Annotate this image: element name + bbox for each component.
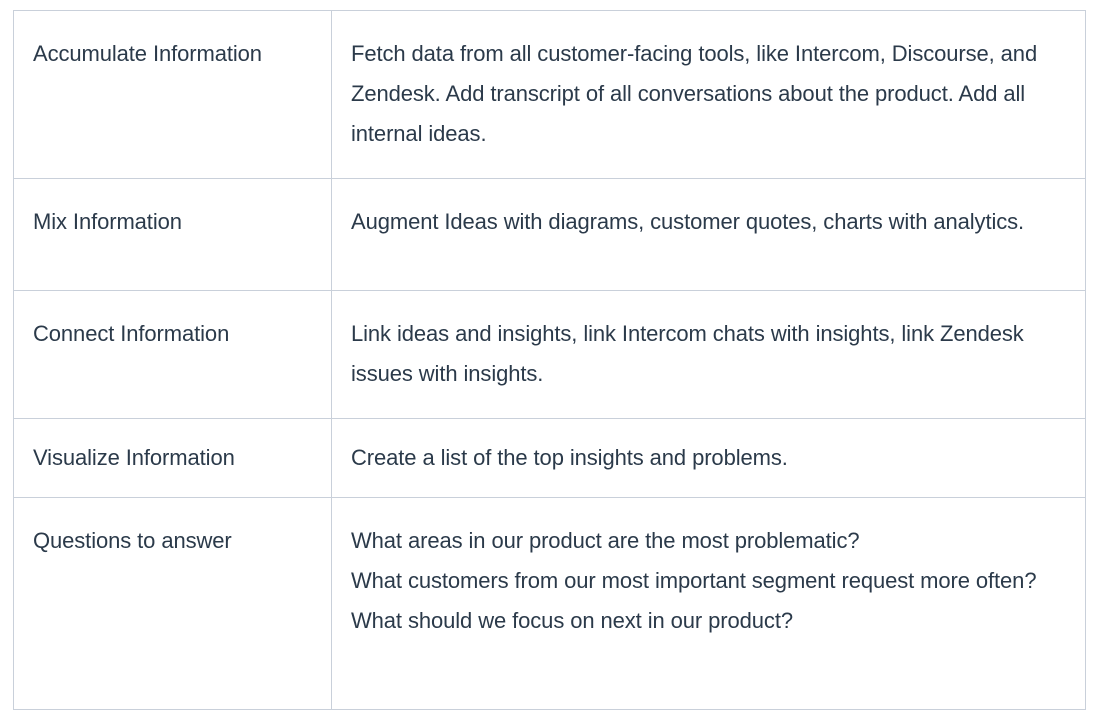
row-label-cell: Visualize Information bbox=[14, 419, 332, 498]
row-label: Connect Information bbox=[33, 321, 229, 346]
row-label: Questions to answer bbox=[33, 528, 232, 553]
table-row: Questions to answer What areas in our pr… bbox=[14, 498, 1086, 710]
info-table-container: Accumulate Information Fetch data from a… bbox=[13, 10, 1086, 672]
row-paragraph: Create a list of the top insights and pr… bbox=[351, 438, 1061, 478]
row-label-cell: Accumulate Information bbox=[14, 11, 332, 179]
table-row: Accumulate Information Fetch data from a… bbox=[14, 11, 1086, 179]
row-paragraph: Fetch data from all customer-facing tool… bbox=[351, 34, 1061, 154]
row-description-cell: Fetch data from all customer-facing tool… bbox=[332, 11, 1086, 179]
info-table: Accumulate Information Fetch data from a… bbox=[13, 10, 1086, 710]
row-label: Mix Information bbox=[33, 209, 182, 234]
table-row: Mix Information Augment Ideas with diagr… bbox=[14, 179, 1086, 291]
table-row: Connect Information Link ideas and insig… bbox=[14, 291, 1086, 419]
row-paragraph: What should we focus on next in our prod… bbox=[351, 601, 1061, 641]
row-description-cell: Create a list of the top insights and pr… bbox=[332, 419, 1086, 498]
row-label-cell: Mix Information bbox=[14, 179, 332, 291]
row-label-cell: Connect Information bbox=[14, 291, 332, 419]
row-paragraph: What customers from our most important s… bbox=[351, 561, 1061, 601]
table-row: Visualize Information Create a list of t… bbox=[14, 419, 1086, 498]
row-label: Accumulate Information bbox=[33, 41, 262, 66]
row-description-cell: Link ideas and insights, link Intercom c… bbox=[332, 291, 1086, 419]
row-description-cell: What areas in our product are the most p… bbox=[332, 498, 1086, 710]
page-root: Accumulate Information Fetch data from a… bbox=[0, 0, 1100, 683]
row-paragraph: Link ideas and insights, link Intercom c… bbox=[351, 314, 1061, 394]
row-paragraph: Augment Ideas with diagrams, customer qu… bbox=[351, 202, 1061, 242]
info-table-body: Accumulate Information Fetch data from a… bbox=[14, 11, 1086, 710]
row-paragraph: What areas in our product are the most p… bbox=[351, 521, 1061, 561]
row-label-cell: Questions to answer bbox=[14, 498, 332, 710]
row-label: Visualize Information bbox=[33, 445, 235, 470]
row-description-cell: Augment Ideas with diagrams, customer qu… bbox=[332, 179, 1086, 291]
